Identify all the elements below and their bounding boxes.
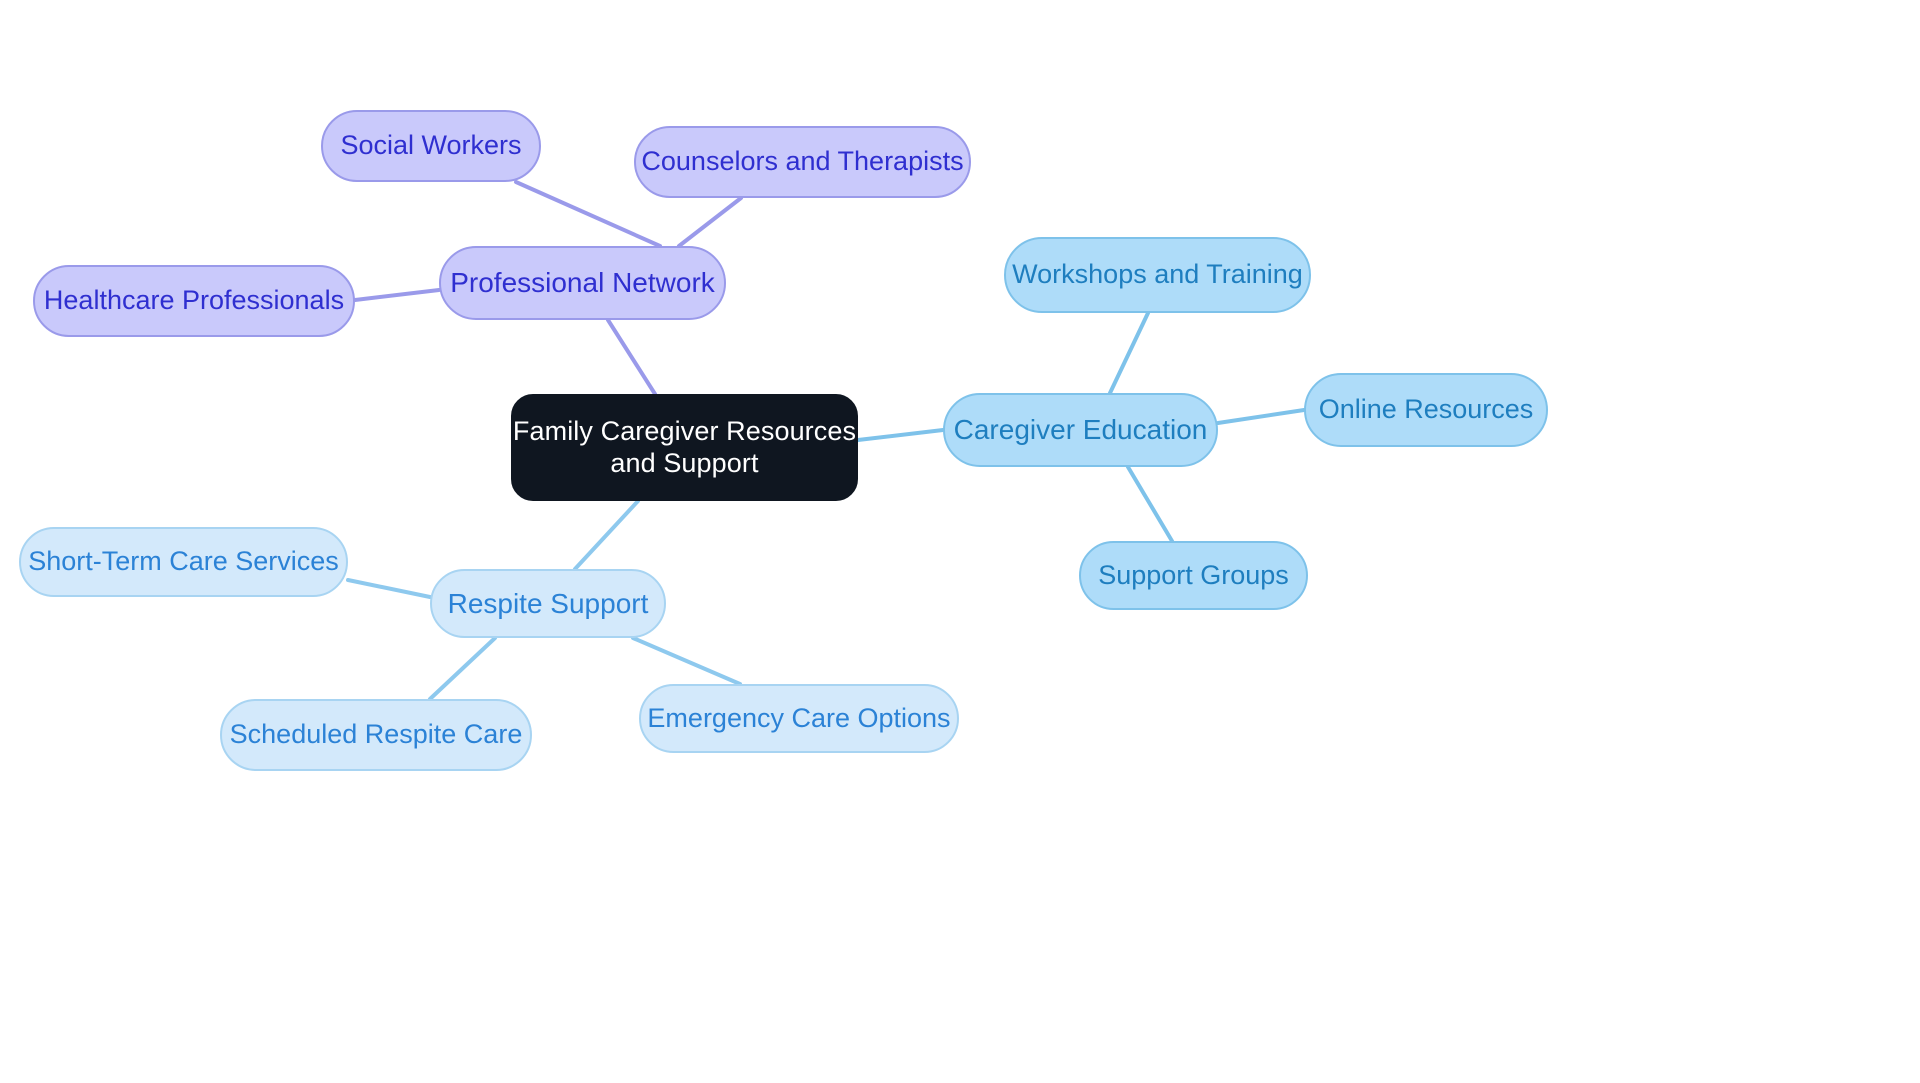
edge-professional-network-to-healthcare-professionals [355,290,439,300]
node-support-groups[interactable]: Support Groups [1079,541,1308,610]
node-workshops-and-training[interactable]: Workshops and Training [1004,237,1311,313]
edge-caregiver-education-to-workshops-and-training [1110,313,1148,393]
edge-root-to-professional-network [608,320,655,394]
edge-caregiver-education-to-support-groups [1128,467,1172,541]
node-caregiver-education[interactable]: Caregiver Education [943,393,1218,467]
node-emergency-care-options[interactable]: Emergency Care Options [639,684,959,753]
edge-professional-network-to-social-workers [516,182,660,246]
node-scheduled-respite-care[interactable]: Scheduled Respite Care [220,699,532,771]
node-root[interactable]: Family Caregiver Resources and Support [511,394,858,501]
edge-respite-support-to-emergency-care-options [633,638,740,684]
edge-respite-support-to-scheduled-respite-care [430,638,495,699]
mindmap-canvas: Family Caregiver Resources and SupportPr… [0,0,1920,1083]
node-short-term-care-services[interactable]: Short-Term Care Services [19,527,348,597]
node-counselors-and-therapists[interactable]: Counselors and Therapists [634,126,971,198]
node-healthcare-professionals[interactable]: Healthcare Professionals [33,265,355,337]
node-professional-network[interactable]: Professional Network [439,246,726,320]
node-social-workers[interactable]: Social Workers [321,110,541,182]
edge-root-to-caregiver-education [858,430,943,440]
edge-respite-support-to-short-term-care-services [348,580,430,597]
node-online-resources[interactable]: Online Resources [1304,373,1548,447]
edge-caregiver-education-to-online-resources [1218,410,1304,423]
node-respite-support[interactable]: Respite Support [430,569,666,638]
edge-root-to-respite-support [575,501,638,569]
edge-professional-network-to-counselors-and-therapists [679,198,741,246]
